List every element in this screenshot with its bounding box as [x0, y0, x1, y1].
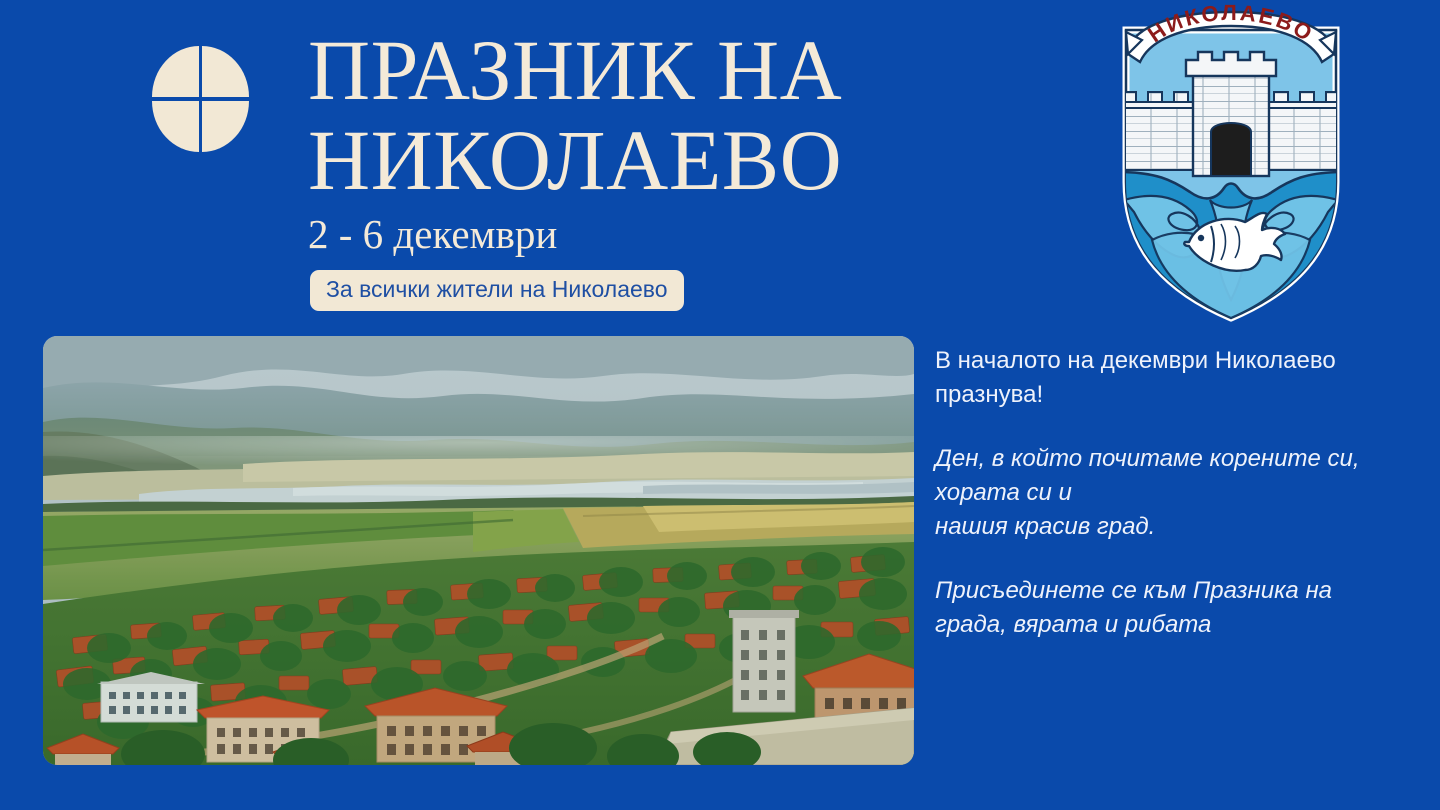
aerial-town-photograph	[43, 336, 914, 765]
logo-petal-top-right	[202, 46, 249, 97]
event-dates: 2 - 6 декември	[308, 213, 1068, 256]
headline-block: ПРАЗНИК НА НИКОЛАЕВО 2 - 6 декември За в…	[308, 28, 1068, 311]
description-paragraph-3: Присъединете се към Празника на града, в…	[935, 574, 1405, 642]
description-paragraph-1: В началото на декември Николаево празнув…	[935, 344, 1405, 412]
logo-petal-top-left	[152, 46, 199, 97]
nikolaevo-coat-of-arms-icon: НИКОЛАЕВО	[1112, 4, 1350, 322]
logo-petal-bottom-right	[202, 101, 249, 152]
description-paragraph-2: Ден, в който почитаме корените си, хорат…	[935, 442, 1405, 544]
poster-canvas: ПРАЗНИК НА НИКОЛАЕВО 2 - 6 декември За в…	[0, 0, 1440, 810]
description-block: В началото на декември Николаево празнув…	[935, 344, 1405, 643]
four-petal-logo-icon	[152, 46, 252, 154]
logo-petal-bottom-left	[152, 101, 199, 152]
audience-badge: За всички жители на Николаево	[310, 270, 684, 311]
headline-line-1: ПРАЗНИК НА	[308, 28, 1068, 112]
headline-line-2: НИКОЛАЕВО	[308, 118, 1068, 202]
